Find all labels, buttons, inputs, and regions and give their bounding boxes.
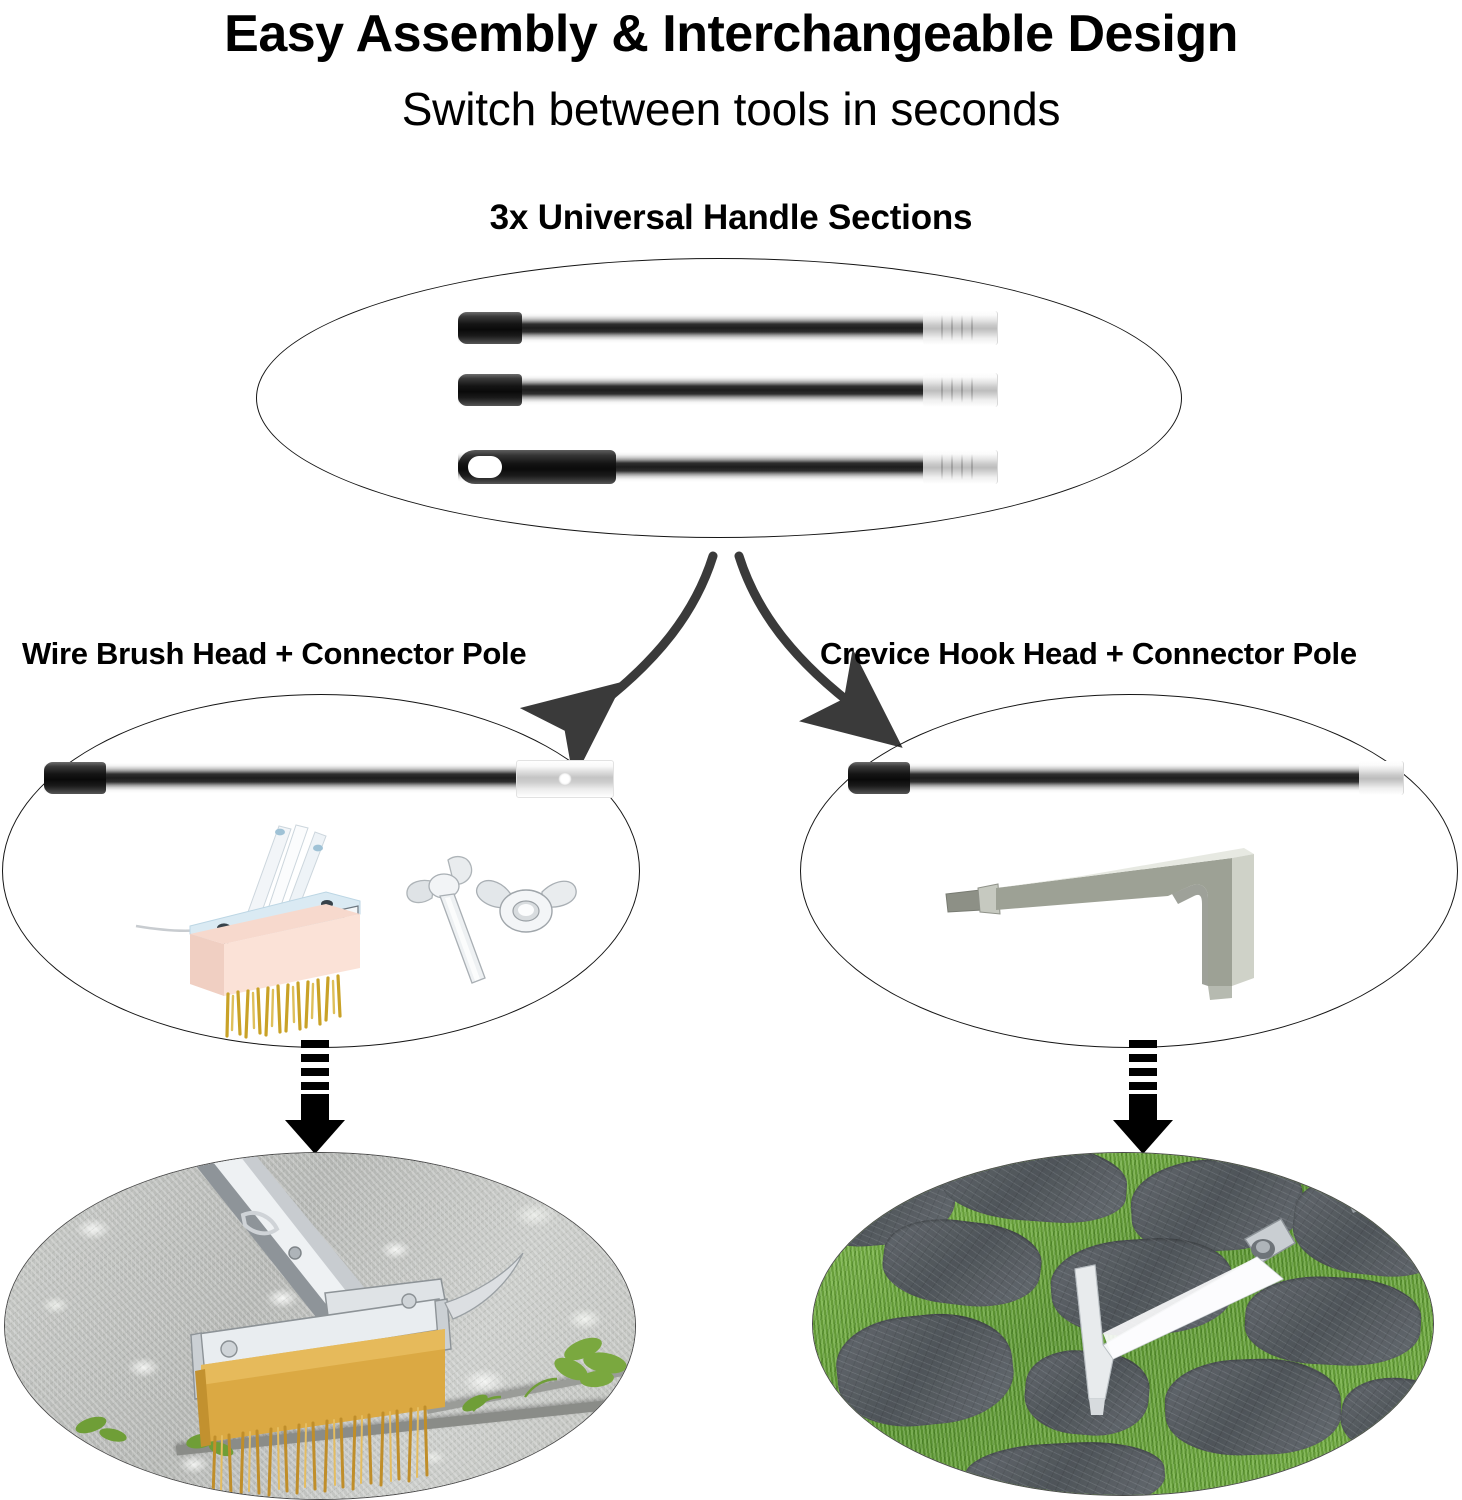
black-grip: [458, 450, 616, 484]
brush-tool-in-photo: [5, 1153, 635, 1499]
photo-hook-pole: [1245, 1153, 1433, 1263]
hook-blade-tip: [1208, 986, 1232, 1000]
wire-brush-in-use-photo: [4, 1152, 636, 1500]
crevice-hook-in-use-photo: [812, 1152, 1434, 1496]
pole-tube: [458, 375, 998, 405]
assemble-arrow-right: [1108, 1038, 1178, 1156]
pole-socket-end: [516, 760, 614, 798]
connector-pole-left: [44, 763, 614, 793]
wing-nut: [472, 862, 580, 954]
assemble-arrow-left: [280, 1038, 350, 1156]
connector-pole-right: [848, 763, 1404, 793]
pole-tube: [848, 763, 1404, 793]
hanging-hole: [468, 456, 502, 478]
black-cap: [848, 762, 910, 794]
hook-edge-thickness: [1232, 854, 1254, 986]
page-subtitle: Switch between tools in seconds: [0, 82, 1462, 136]
crevice-hook-branch-label: Crevice Hook Head + Connector Pole: [820, 636, 1357, 672]
hook-tool-in-photo: [813, 1153, 1433, 1495]
hook-shank: [946, 890, 982, 912]
hook-elbow-shade: [1172, 885, 1208, 987]
threaded-ferrule: [923, 450, 998, 484]
wire-brush-head: [128, 808, 408, 1040]
brush-block: [190, 904, 360, 996]
handle-sections-heading: 3x Universal Handle Sections: [0, 198, 1462, 238]
hook-blade-face: [996, 858, 1232, 986]
handle-section-3-with-grip: [458, 452, 998, 482]
pole-tube: [458, 313, 998, 343]
plain-ferrule: [1359, 761, 1404, 795]
pin-hole: [559, 773, 572, 786]
curved-arrow-right: [739, 556, 862, 712]
black-cap: [44, 762, 106, 794]
handle-section-2: [458, 375, 998, 405]
curved-arrow-left: [590, 556, 713, 712]
photo-hook-blade: [1075, 1257, 1283, 1415]
threaded-ferrule: [923, 373, 998, 407]
black-cap: [458, 312, 522, 344]
crevice-hook-head: [932, 834, 1284, 1042]
black-cap: [458, 374, 522, 406]
handle-section-1: [458, 313, 998, 343]
wire-brush-branch-label: Wire Brush Head + Connector Pole: [22, 636, 526, 672]
page-title: Easy Assembly & Interchangeable Design: [0, 4, 1462, 64]
threaded-ferrule: [923, 311, 998, 345]
